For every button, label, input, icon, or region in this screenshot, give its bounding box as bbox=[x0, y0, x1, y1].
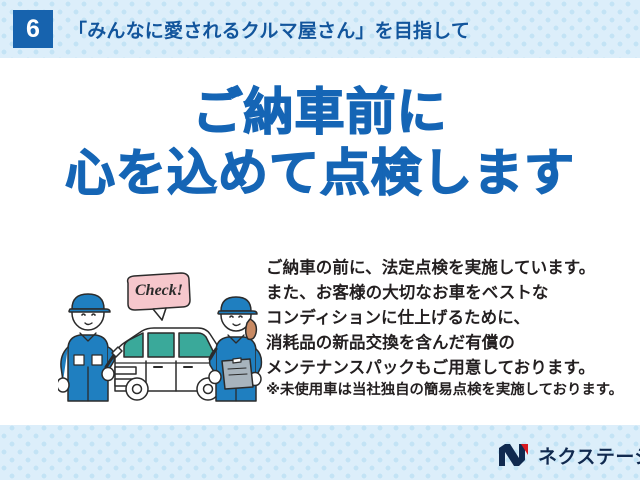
check-bubble-text: Check! bbox=[135, 282, 183, 299]
body-footnote: ※未使用車は当社独自の簡易点検を実施しております。 bbox=[266, 378, 626, 399]
body-line-3: コンディションに仕上げるために、 bbox=[266, 306, 626, 331]
section-number-badge: 6 bbox=[13, 10, 53, 48]
page-title: 「みんなに愛されるクルマ屋さん」を目指して bbox=[68, 16, 470, 43]
minivan-icon bbox=[115, 328, 225, 400]
body-line-4: 消耗品の新品交換を含んだ有償の bbox=[266, 331, 626, 356]
headline-line-2: 心を込めて点検します bbox=[0, 143, 640, 204]
page-header: 6 「みんなに愛されるクルマ屋さん」を目指して bbox=[0, 0, 640, 58]
mechanics-illustration: Check! bbox=[58, 263, 263, 403]
nextage-n-logo-icon bbox=[497, 442, 531, 468]
content-card: ご納車前に 心を込めて点検します ご納車の前に、法定点検を実施しています。 また… bbox=[0, 58, 640, 425]
body-line-1: ご納車の前に、法定点検を実施しています。 bbox=[266, 256, 626, 281]
headline: ご納車前に 心を込めて点検します bbox=[0, 82, 640, 204]
male-mechanic-figure bbox=[58, 294, 122, 401]
brand-name: ネクステージ bbox=[538, 442, 640, 469]
headline-line-1: ご納車前に bbox=[0, 82, 640, 143]
advertisement-page: 6 「みんなに愛されるクルマ屋さん」を目指して ご納車前に 心を込めて点検します… bbox=[0, 0, 640, 480]
body-copy: ご納車の前に、法定点検を実施しています。 また、お客様の大切なお車をベストな コ… bbox=[266, 256, 626, 381]
body-line-2: また、お客様の大切なお車をベストな bbox=[266, 281, 626, 306]
brand-logo: ネクステージ bbox=[497, 440, 640, 470]
female-mechanic-figure bbox=[209, 297, 261, 401]
